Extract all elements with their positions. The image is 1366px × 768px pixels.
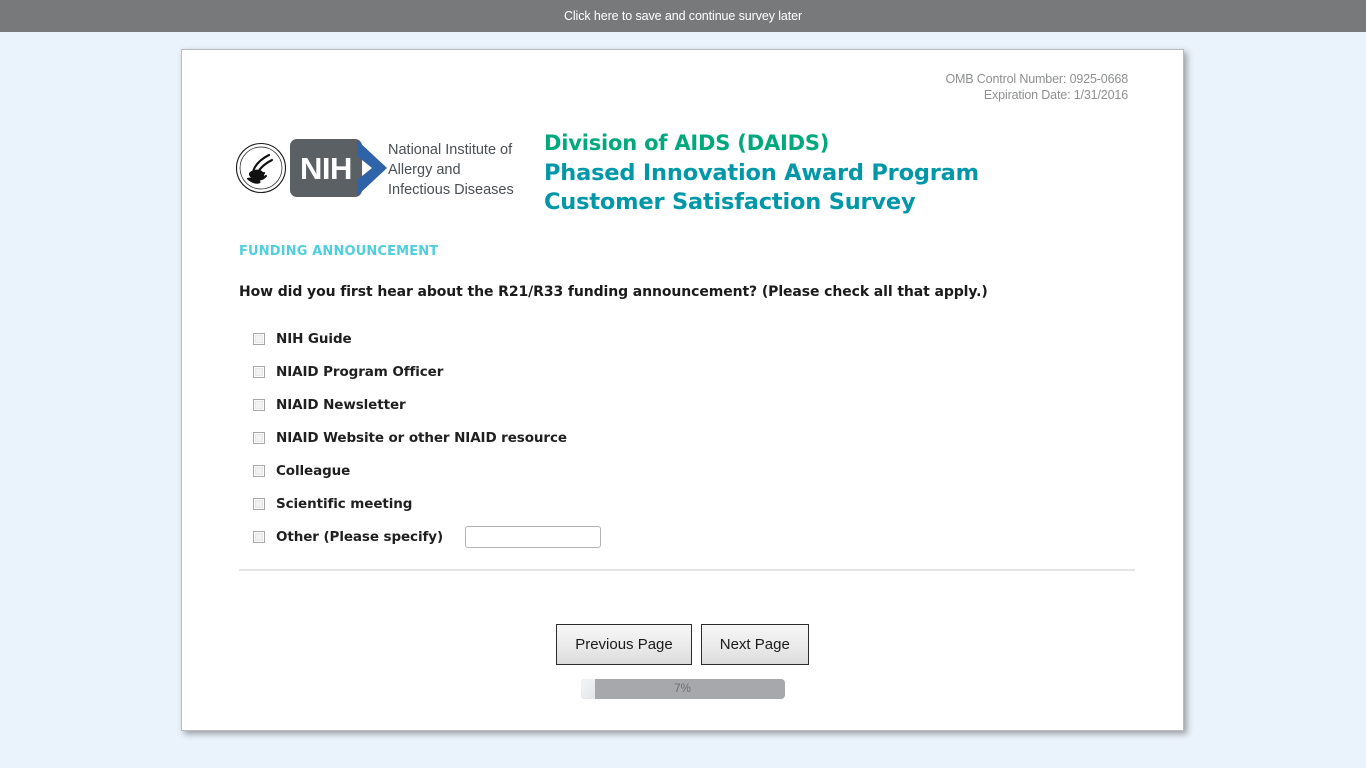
option-row: Colleague	[253, 454, 953, 487]
other-specify-input[interactable]	[465, 526, 601, 548]
save-and-continue-bar: Click here to save and continue survey l…	[0, 0, 1366, 32]
save-and-continue-link[interactable]: Click here to save and continue survey l…	[564, 9, 802, 23]
survey-progress-bar: 7%	[581, 679, 785, 699]
next-page-button[interactable]: Next Page	[701, 624, 809, 665]
option-row: NIH Guide	[253, 322, 953, 355]
survey-title-line-3: Customer Satisfaction Survey	[544, 188, 979, 218]
checkbox-niaid-program-officer[interactable]	[253, 366, 265, 378]
previous-page-button[interactable]: Previous Page	[556, 624, 692, 665]
option-row: Other (Please specify)	[253, 520, 953, 553]
institute-line-1: National Institute of	[388, 140, 514, 160]
checkbox-niaid-newsletter[interactable]	[253, 399, 265, 411]
nih-chevron-icon	[355, 139, 389, 197]
omb-control-number: OMB Control Number: 0925-0668	[945, 71, 1128, 87]
checkbox-option-list: NIH Guide NIAID Program Officer NIAID Ne…	[253, 322, 953, 553]
checkbox-colleague[interactable]	[253, 465, 265, 477]
progress-percent-label: 7%	[581, 679, 785, 699]
navigation-buttons: Previous Page Next Page	[182, 624, 1183, 665]
institute-line-3: Infectious Diseases	[388, 180, 514, 200]
option-label: Other (Please specify)	[276, 529, 443, 545]
niaid-institute-name: National Institute of Allergy and Infect…	[388, 140, 514, 200]
option-row: NIAID Program Officer	[253, 355, 953, 388]
checkbox-niaid-website[interactable]	[253, 432, 265, 444]
option-row: Scientific meeting	[253, 487, 953, 520]
survey-card: OMB Control Number: 0925-0668 Expiration…	[181, 49, 1184, 731]
progress-area: 7%	[182, 679, 1183, 699]
option-label: Scientific meeting	[276, 496, 412, 512]
survey-title: Division of AIDS (DAIDS) Phased Innovati…	[544, 129, 979, 218]
nih-wordmark: NIH	[290, 139, 362, 197]
section-heading-funding-announcement: FUNDING ANNOUNCEMENT	[239, 244, 438, 259]
question-prompt: How did you first hear about the R21/R33…	[239, 284, 988, 300]
option-row: NIAID Website or other NIAID resource	[253, 421, 953, 454]
checkbox-scientific-meeting[interactable]	[253, 498, 265, 510]
hhs-seal-icon	[235, 142, 287, 194]
option-label: Colleague	[276, 463, 350, 479]
option-label: NIH Guide	[276, 331, 352, 347]
institute-line-2: Allergy and	[388, 160, 514, 180]
option-label: NIAID Newsletter	[276, 397, 406, 413]
nih-logo: NIH	[233, 138, 393, 198]
survey-title-line-1: Division of AIDS (DAIDS)	[544, 129, 979, 159]
survey-header: NIH National Institute of Allergy and In…	[182, 89, 1183, 199]
content-divider	[239, 569, 1135, 571]
option-label: NIAID Program Officer	[276, 364, 443, 380]
option-label: NIAID Website or other NIAID resource	[276, 430, 567, 446]
checkbox-nih-guide[interactable]	[253, 333, 265, 345]
checkbox-other[interactable]	[253, 531, 265, 543]
option-row: NIAID Newsletter	[253, 388, 953, 421]
survey-title-line-2: Phased Innovation Award Program	[544, 159, 979, 189]
